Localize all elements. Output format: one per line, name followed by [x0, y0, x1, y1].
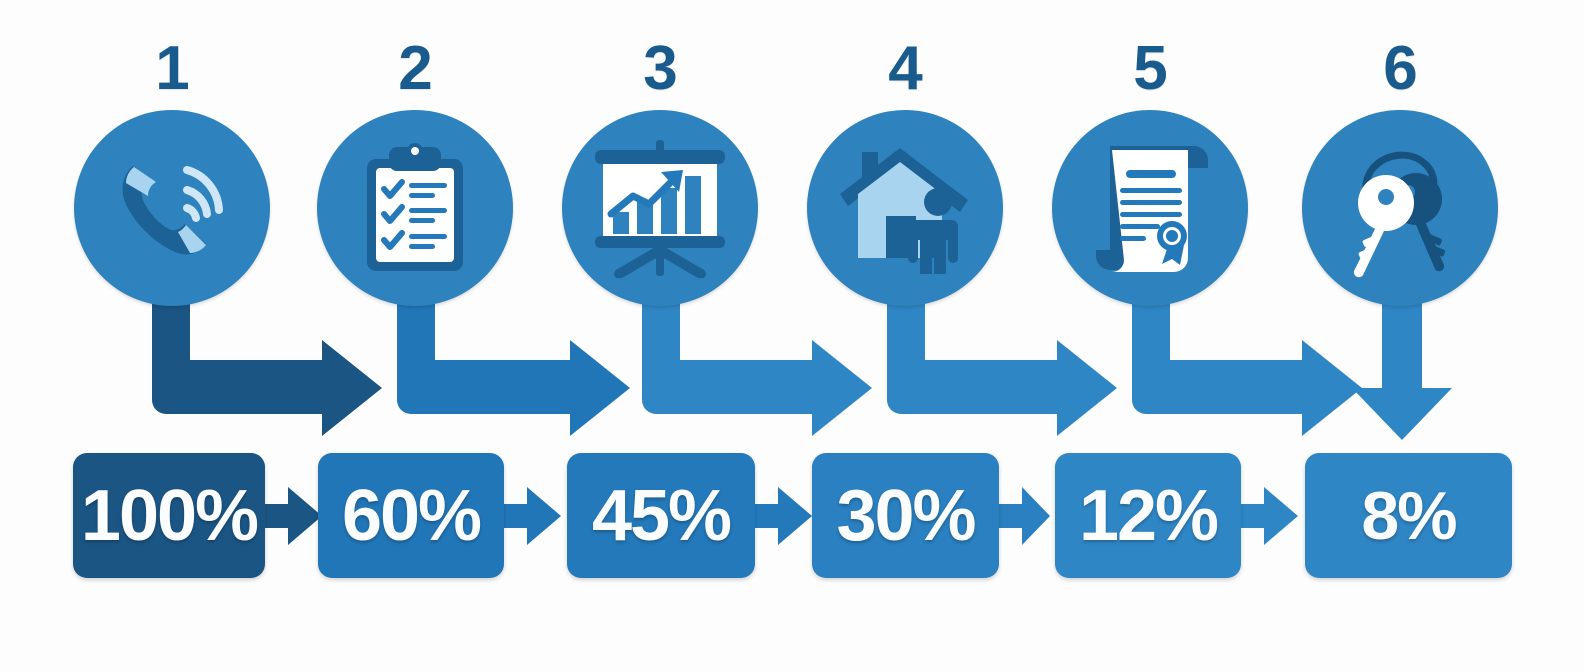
box-arrow-3 [755, 487, 812, 545]
step-number-2: 2 [355, 38, 475, 100]
percent-box-2[interactable]: 60% [318, 453, 504, 578]
connector-5 [1132, 300, 1362, 436]
percent-label-6: 8% [1361, 482, 1455, 550]
step-number-6: 6 [1340, 38, 1460, 100]
step-number-3: 3 [600, 38, 720, 100]
percent-box-3[interactable]: 45% [567, 453, 755, 578]
phone-call-icon [107, 148, 237, 268]
percent-box-6[interactable]: 8% [1305, 453, 1512, 578]
infographic-root: 1 2 3 4 5 6 [0, 0, 1584, 672]
box-arrow-1 [265, 487, 322, 545]
step-circle-2[interactable] [317, 110, 513, 306]
box-arrow-2 [504, 487, 561, 545]
step-circle-6[interactable] [1302, 110, 1498, 306]
percent-label-1: 100% [81, 480, 257, 552]
connector-2 [397, 300, 630, 436]
connector-4 [887, 300, 1117, 436]
percent-box-4[interactable]: 30% [812, 453, 999, 578]
infographic-stage: 1 2 3 4 5 6 [0, 0, 1584, 672]
step-number-1: 1 [112, 38, 232, 100]
percent-label-4: 30% [836, 480, 974, 552]
percent-label-3: 45% [592, 480, 730, 552]
certificate-document-icon [1086, 140, 1214, 276]
connector-3 [642, 300, 872, 436]
percent-label-5: 12% [1079, 480, 1217, 552]
connector-1 [152, 300, 382, 436]
step-circle-4[interactable] [807, 110, 1003, 306]
keys-icon [1332, 137, 1468, 279]
step-number-5: 5 [1090, 38, 1210, 100]
percent-box-1[interactable]: 100% [73, 453, 265, 578]
percent-label-2: 60% [342, 480, 480, 552]
presentation-chart-icon [589, 138, 731, 278]
clipboard-checklist-icon [357, 141, 473, 275]
box-arrow-4 [999, 487, 1050, 545]
box-arrow-5 [1241, 487, 1298, 545]
house-person-icon [834, 142, 976, 274]
percent-box-5[interactable]: 12% [1055, 453, 1241, 578]
key-light [1354, 175, 1414, 277]
step-circle-3[interactable] [562, 110, 758, 306]
connector-6-down [1352, 300, 1452, 440]
step-circle-1[interactable] [74, 110, 270, 306]
step-circle-5[interactable] [1052, 110, 1248, 306]
step-number-4: 4 [845, 38, 965, 100]
